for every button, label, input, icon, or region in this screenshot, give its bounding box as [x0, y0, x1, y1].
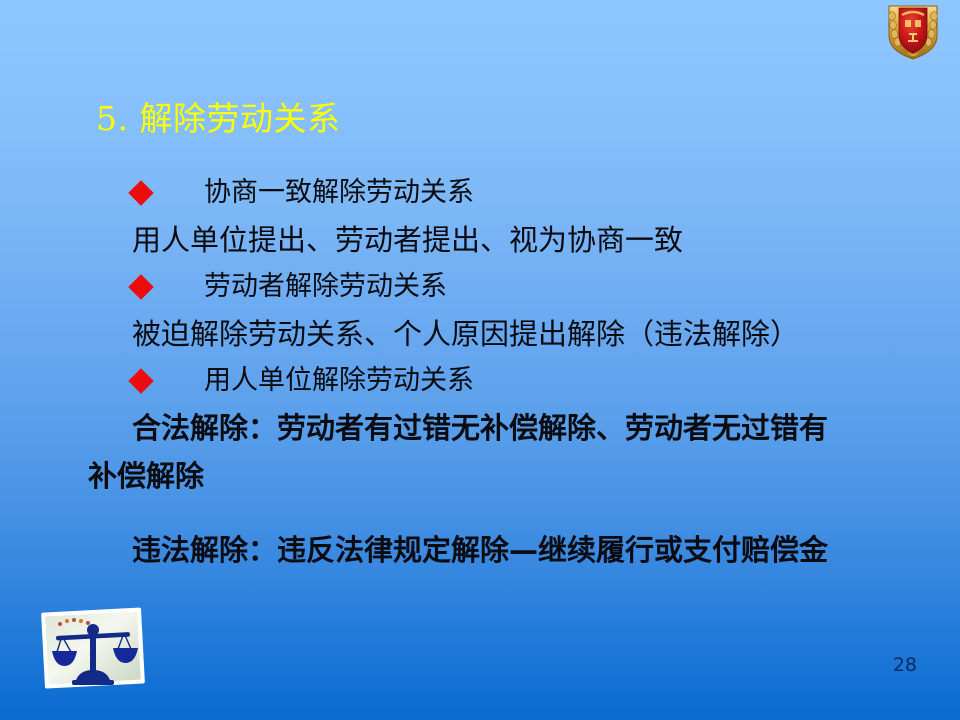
bullet-item-2-label: 劳动者解除劳动关系 [204, 264, 447, 310]
slide-body: 协商一致解除劳动关系 用人单位提出、劳动者提出、视为协商一致 劳动者解除劳动关系… [0, 170, 960, 574]
bullet-item-2: 劳动者解除劳动关系 [0, 264, 960, 310]
body-line-3b: 补偿解除 [0, 452, 960, 500]
emblem-badge-icon [882, 2, 944, 62]
diamond-bullet-icon [128, 180, 153, 205]
spacer [0, 500, 960, 526]
body-line-4: 违法解除：违反法律规定解除—继续履行或支付赔偿金 [0, 526, 960, 574]
bullet-item-3: 用人单位解除劳动关系 [0, 358, 960, 404]
bullet-item-1: 协商一致解除劳动关系 [0, 170, 960, 216]
body-line-2: 被迫解除劳动关系、个人原因提出解除（违法解除） [0, 310, 960, 358]
slide-title: 5. 解除劳动关系 [96, 99, 340, 139]
body-line-3a: 合法解除：劳动者有过错无补偿解除、劳动者无过错有 [0, 404, 960, 452]
diamond-bullet-icon [128, 274, 153, 299]
diamond-bullet-icon [128, 368, 153, 393]
body-line-1: 用人单位提出、劳动者提出、视为协商一致 [0, 216, 960, 264]
bullet-item-1-label: 协商一致解除劳动关系 [204, 170, 474, 216]
page-number: 28 [893, 654, 917, 676]
scales-of-justice-icon [38, 602, 150, 694]
slide-canvas: 5. 解除劳动关系 协商一致解除劳动关系 用人单位提出、劳动者提出、视为协商一致… [0, 0, 960, 720]
bullet-item-3-label: 用人单位解除劳动关系 [204, 358, 474, 404]
